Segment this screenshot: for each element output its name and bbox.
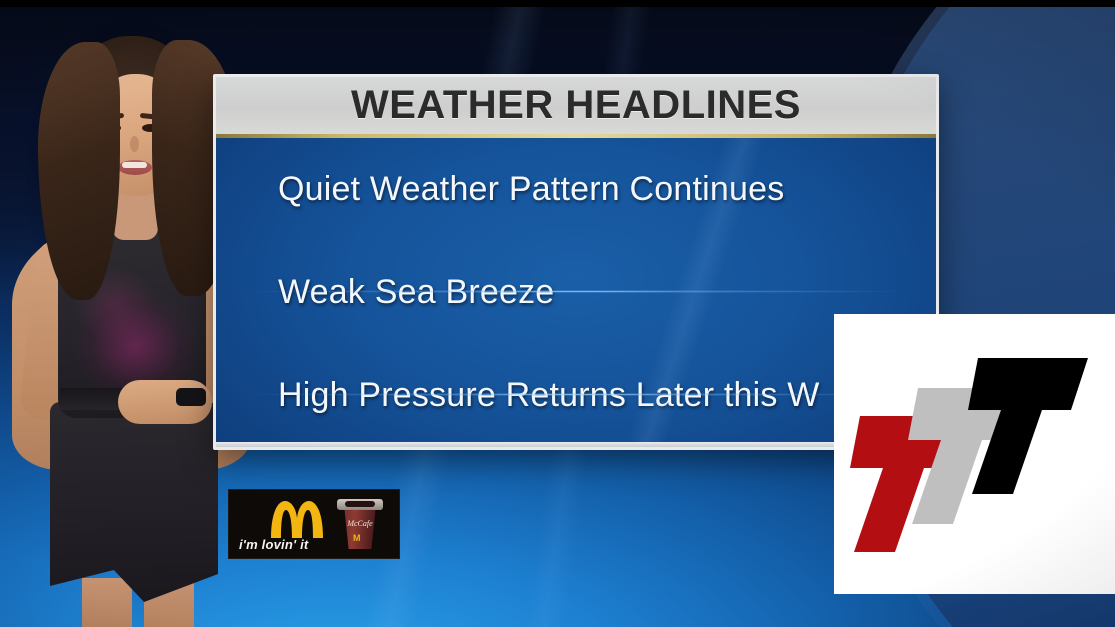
presenter-dress-skirt <box>50 402 218 602</box>
headline-divider <box>240 290 912 293</box>
weather-headlines-panel: WEATHER HEADLINES Quiet Weather Pattern … <box>213 74 939 450</box>
headline-divider <box>240 393 912 396</box>
headline-row: Weak Sea Breeze <box>216 241 936 344</box>
panel-body: Quiet Weather Pattern Continues Weak Sea… <box>216 138 936 447</box>
headline-row: Quiet Weather Pattern Continues <box>216 138 936 241</box>
presenter-teeth <box>122 162 147 168</box>
letterbox-bar-top <box>0 0 1115 7</box>
headline-text: Weak Sea Breeze <box>278 273 554 312</box>
logo-overlay-box <box>834 314 1115 594</box>
sponsor-banner-mcdonalds: i'm lovin' it McCafe M <box>228 489 400 559</box>
panel-title: WEATHER HEADLINES <box>351 83 801 128</box>
cup-lid-opening <box>345 501 375 507</box>
logo-t-black-icon <box>960 278 1115 498</box>
broadcast-screenshot: WEATHER HEADLINES Quiet Weather Pattern … <box>0 0 1115 627</box>
mccafe-label: McCafe <box>343 519 377 528</box>
sponsor-tagline: i'm lovin' it <box>239 537 308 552</box>
cup-arch-glyph: M <box>353 533 361 543</box>
presenter-clicker-device <box>176 388 206 406</box>
presenter-hair-left <box>38 42 120 300</box>
presenter-nose <box>130 136 139 152</box>
mccafe-cup-image: McCafe M <box>337 497 383 551</box>
headline-text: Quiet Weather Pattern Continues <box>278 170 784 209</box>
golden-arches-icon <box>265 498 329 538</box>
headline-text: High Pressure Returns Later this W <box>278 376 820 415</box>
panel-bottom-rule <box>216 442 936 447</box>
panel-header: WEATHER HEADLINES <box>216 77 936 134</box>
headline-row: High Pressure Returns Later this W <box>216 344 936 447</box>
